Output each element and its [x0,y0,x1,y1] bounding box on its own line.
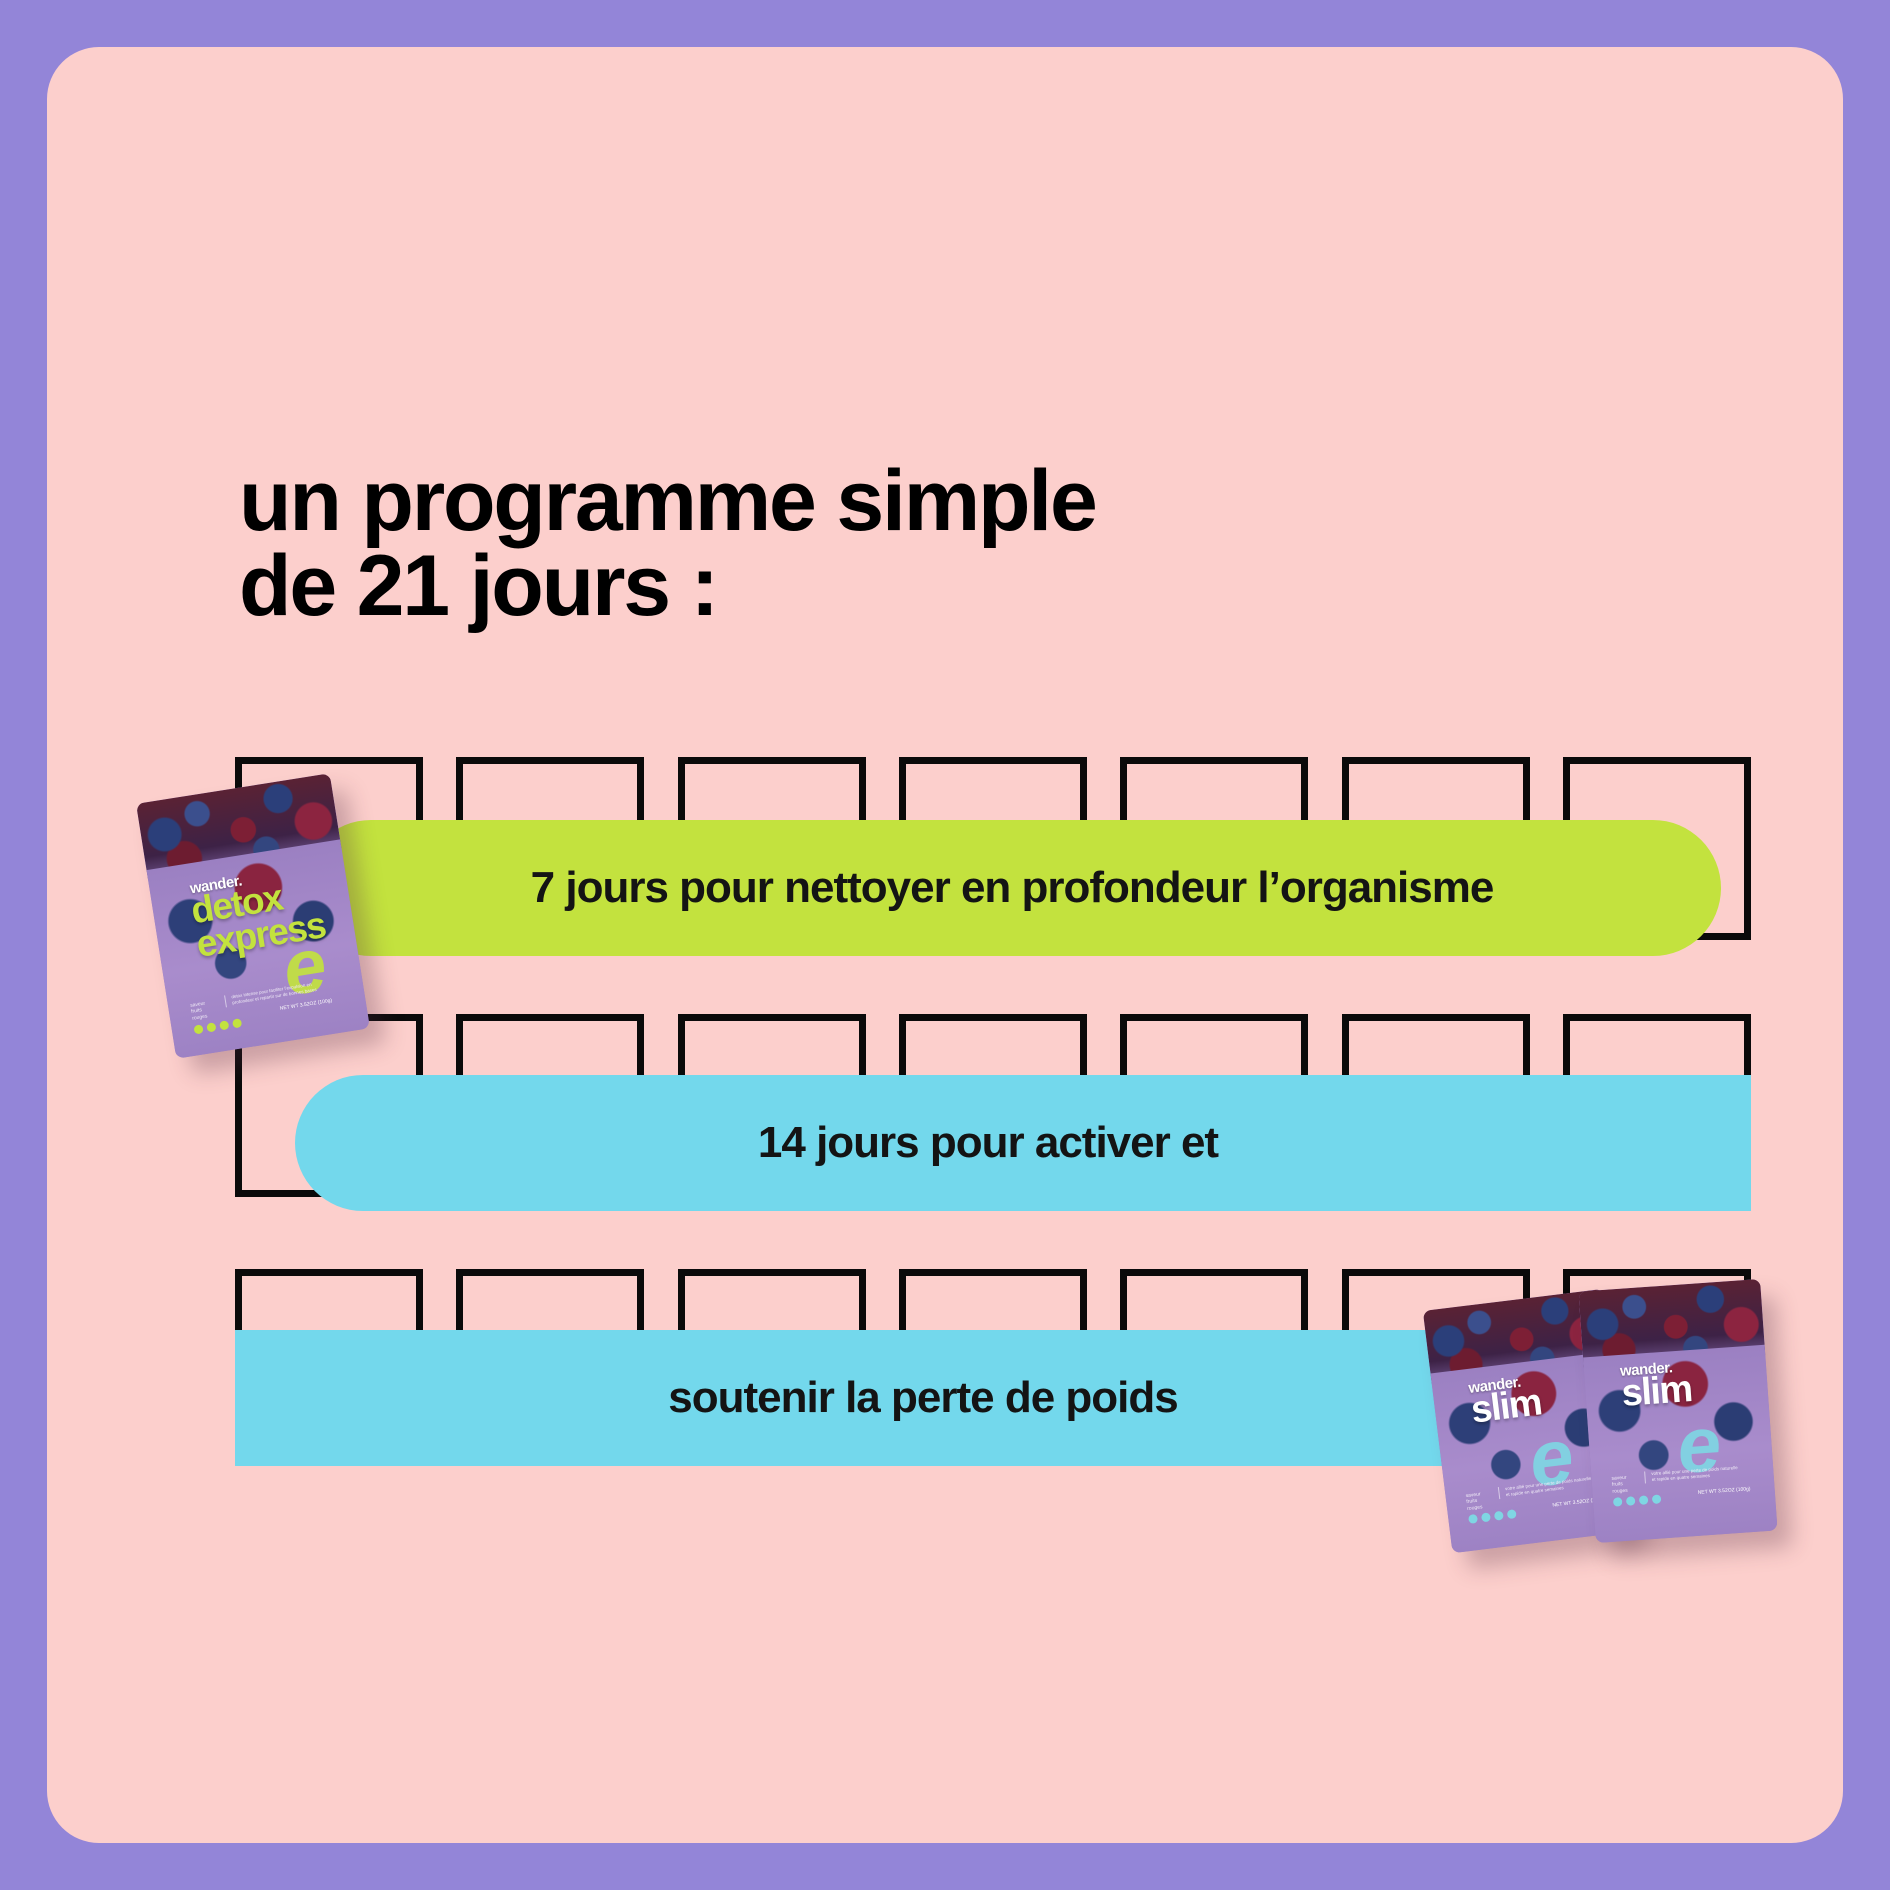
dot-icon [1468,1514,1478,1524]
dot-icon [206,1022,216,1032]
outer-frame: un programme simple de 21 jours : [0,0,1890,1890]
dot-icon [1481,1512,1491,1522]
phase-bar-activate: 14 jours pour activer et [295,1075,1751,1211]
phase-bar-weightloss-label: soutenir la perte de poids [668,1373,1177,1423]
dot-icon [1652,1494,1662,1504]
page-title-line-1: un programme simple [239,459,1439,544]
product-flavor: saveurfruitsrouges [190,1001,208,1022]
dot-icon [1639,1495,1649,1505]
phase-bar-detox: 7 jours pour nettoyer en profondeur l’or… [303,820,1721,956]
dot-icon [1494,1511,1504,1521]
dot-icon [219,1020,229,1030]
phase-bar-activate-label: 14 jours pour activer et [758,1118,1218,1168]
promo-card: un programme simple de 21 jours : [47,47,1843,1843]
product-flavor: saveurfruitsrouges [1611,1475,1628,1495]
product-pouch-detox-express: wander. detox express e saveurfruitsroug… [136,773,370,1058]
phase-bar-detox-label: 7 jours pour nettoyer en profondeur l’or… [531,863,1494,913]
page-title-line-2: de 21 jours : [239,544,1439,629]
dot-icon [193,1024,203,1034]
product-pouch-slim-right: wander. slim e saveurfruitsrouges votre … [1578,1279,1777,1543]
dot-icon [1626,1496,1636,1506]
product-flavor: saveurfruitsrouges [1465,1491,1482,1511]
dot-icon [1507,1509,1517,1519]
dot-icon [1613,1497,1623,1507]
dot-icon [232,1018,242,1028]
page-title: un programme simple de 21 jours : [239,459,1439,629]
